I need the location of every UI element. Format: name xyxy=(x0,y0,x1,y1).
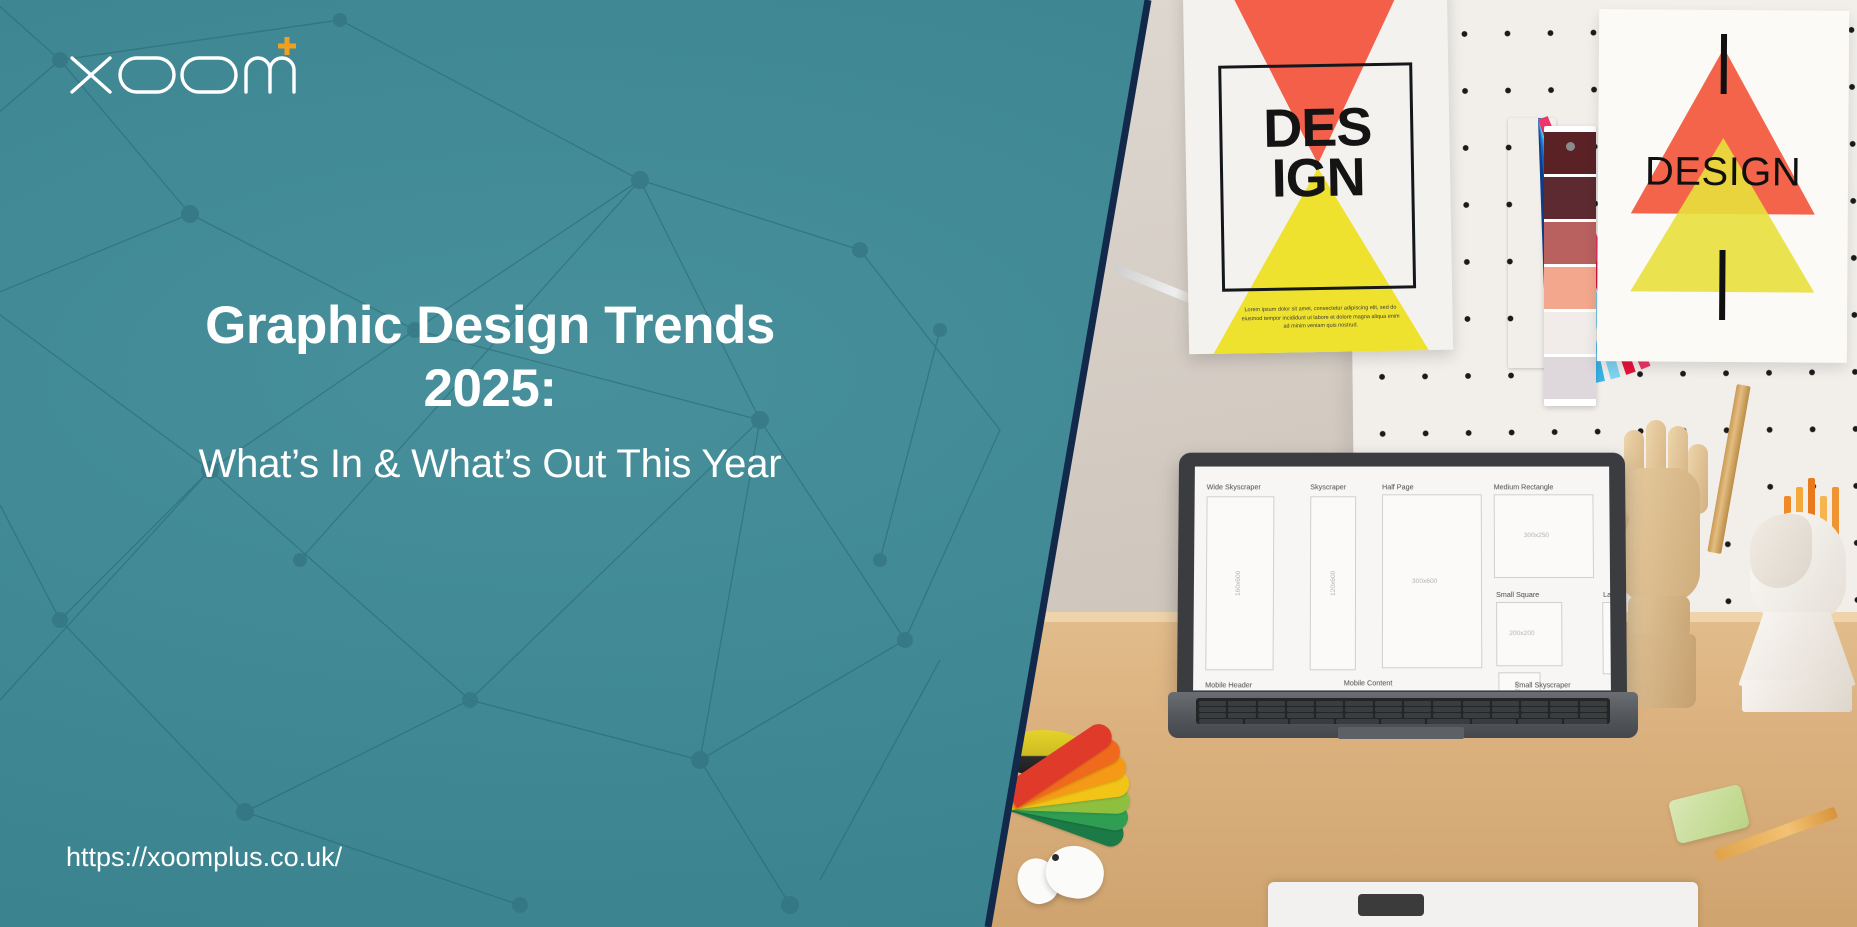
black-bar-bottom xyxy=(1719,250,1725,320)
design-poster-pegboard: DESIGN xyxy=(1597,9,1849,363)
color-swatch xyxy=(1544,267,1596,309)
ad-box-large xyxy=(1602,602,1611,674)
ad-label: Small Square xyxy=(1496,590,1539,599)
keyboard-row xyxy=(1199,719,1607,724)
color-swatch xyxy=(1544,357,1596,399)
poster-lorem-text: Lorem ipsum dolor sit amet, consectetur … xyxy=(1238,304,1402,332)
website-url[interactable]: https://xoomplus.co.uk/ xyxy=(66,842,342,873)
poster-word: DES IGN xyxy=(1185,102,1451,206)
laptop-screen: Wide SkyscraperSkyscraperHalf PageMedium… xyxy=(1193,467,1611,691)
ad-dimension: 300x600 xyxy=(1412,578,1437,585)
poster-right-word: DESIGN xyxy=(1598,149,1848,196)
keyboard-row xyxy=(1199,707,1607,712)
color-swatch xyxy=(1544,222,1596,264)
external-keyboard[interactable] xyxy=(1268,882,1698,927)
ad-dimension: 120x600 xyxy=(1330,571,1337,596)
headline-line-1: Graphic Design Trends xyxy=(60,295,920,358)
poster-word-line2: IGN xyxy=(1186,151,1451,205)
bust-shoulders xyxy=(1738,612,1856,686)
ad-dimension: 120x240 xyxy=(1514,681,1521,690)
ad-label: Medium Rectangle xyxy=(1494,482,1554,491)
ad-dimension: 160x600 xyxy=(1235,571,1242,596)
ad-label: Half Page xyxy=(1382,482,1413,491)
bust-hair xyxy=(1750,514,1812,588)
laptop-lid: Wide SkyscraperSkyscraperHalf PageMedium… xyxy=(1177,453,1627,703)
ad-label: Mobile Content xyxy=(1344,678,1393,687)
ad-label: Large xyxy=(1603,590,1611,599)
ad-label: Skyscraper xyxy=(1310,482,1346,491)
keyboard-row xyxy=(1199,713,1607,718)
marketing-banner: DES IGN Lorem ipsum dolor sit amet, cons… xyxy=(0,0,1857,927)
laptop-trackpad[interactable] xyxy=(1338,727,1464,739)
bust-plinth xyxy=(1742,680,1852,712)
swatch-strip xyxy=(1544,126,1596,406)
keyboard-key xyxy=(1358,894,1424,916)
laptop-keyboard[interactable] xyxy=(1196,698,1610,724)
earbud-sensor xyxy=(1052,854,1059,861)
page-title: Graphic Design Trends 2025: xyxy=(60,295,920,420)
ad-label: Mobile Header xyxy=(1205,680,1252,689)
design-poster-framed: DES IGN Lorem ipsum dolor sit amet, cons… xyxy=(1183,0,1453,354)
xoom-logo-mark xyxy=(66,32,296,98)
ad-dimension: 200x200 xyxy=(1509,630,1534,637)
ad-dimension: 300x250 xyxy=(1524,532,1549,539)
ad-label: Wide Skyscraper xyxy=(1207,482,1261,491)
black-bar-top xyxy=(1721,34,1727,94)
color-swatch xyxy=(1544,132,1596,174)
brand-logo[interactable] xyxy=(66,32,296,98)
ad-label: Small Skyscraper xyxy=(1514,680,1570,689)
laptop: Wide SkyscraperSkyscraperHalf PageMedium… xyxy=(1168,452,1638,742)
keyboard-row xyxy=(1199,701,1607,706)
headline-line-2: 2025: xyxy=(60,358,920,421)
david-bust-pencil-holder xyxy=(1736,512,1857,722)
fan-pin xyxy=(1566,142,1575,151)
color-swatch xyxy=(1544,312,1596,354)
page-subtitle: What’s In & What’s Out This Year xyxy=(60,440,920,488)
earbuds xyxy=(1018,840,1114,906)
color-swatch xyxy=(1544,177,1596,219)
